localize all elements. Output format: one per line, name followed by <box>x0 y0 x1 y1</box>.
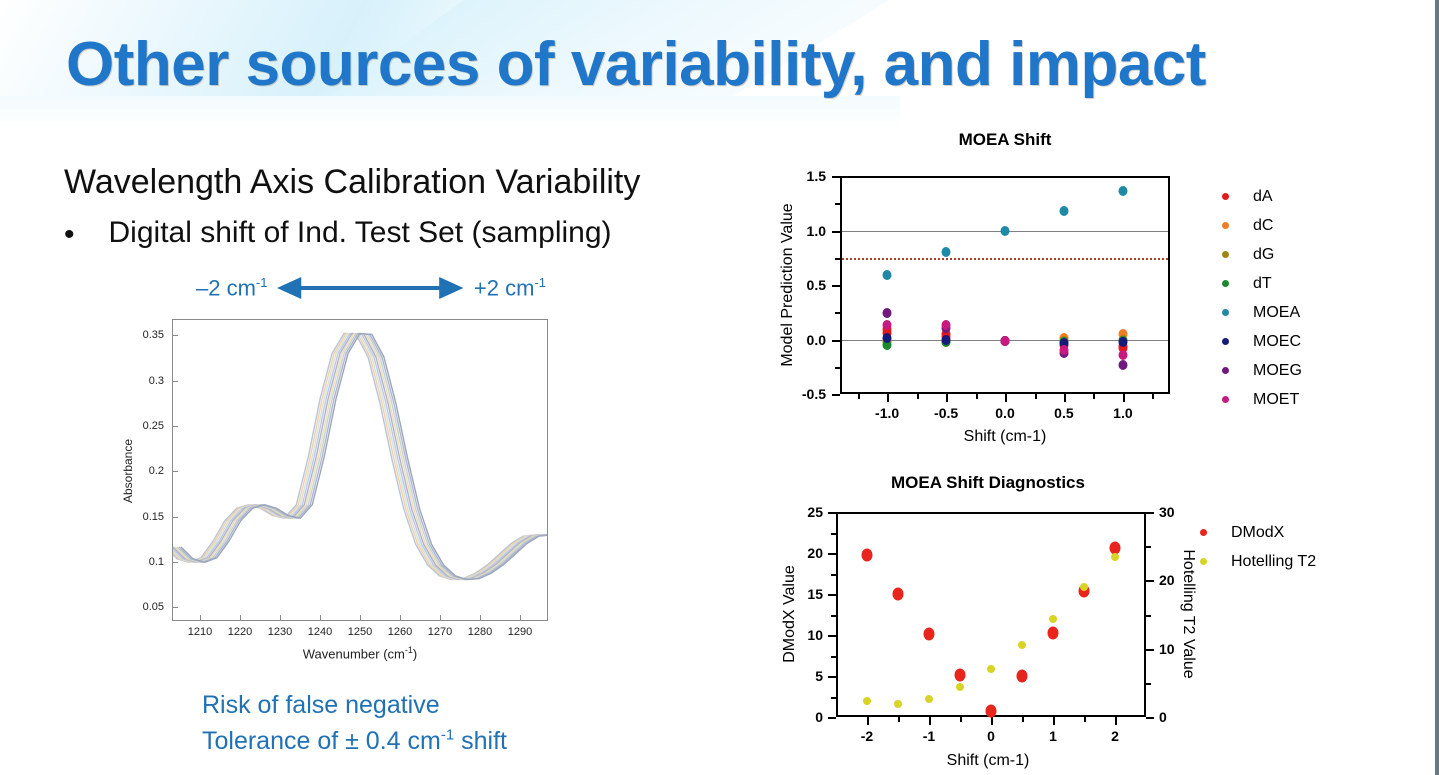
moea-x-minor-tick <box>858 394 860 399</box>
moea-data-point <box>1001 226 1010 236</box>
moea-y-tick-label: 1.0 <box>807 223 826 239</box>
moea-data-point <box>1059 345 1068 355</box>
moea-x-tick-mark <box>1064 394 1066 402</box>
diagnostics-data-point <box>862 548 873 561</box>
moea-legend-swatch <box>1222 193 1229 200</box>
diagnostics-y-tick-label: 10 <box>807 627 823 643</box>
moea-data-point <box>942 247 951 257</box>
moea-legend-swatch <box>1222 222 1229 229</box>
diagnostics-data-point <box>1017 670 1028 683</box>
moea-y-minor-tick <box>835 258 840 260</box>
moea-y-tick-label: 0.5 <box>807 277 826 293</box>
moea-legend-item: MOEG <box>1222 356 1302 385</box>
diagnostics-data-point <box>894 700 902 708</box>
moea-legend-label: dA <box>1253 188 1273 206</box>
diagnostics-data-point <box>1111 553 1119 561</box>
spectrum-x-tick-mark <box>280 615 281 621</box>
moea-legend-item: dA <box>1222 182 1302 211</box>
diagnostics-y-tick-mark <box>828 553 836 555</box>
diagnostics-data-point <box>986 705 997 718</box>
spectrum-x-tick-mark <box>320 615 321 621</box>
shift-range-annotation: –2 cm-1 +2 cm-1 <box>196 270 546 306</box>
diagnostics-x-tick-label: 2 <box>1111 728 1119 744</box>
spectrum-x-tick-label: 1270 <box>428 626 452 638</box>
moea-legend-swatch <box>1222 338 1229 345</box>
spectrum-chart: Absorbance Wavenumber (cm-1) 0.050.10.15… <box>130 313 556 670</box>
background-accent-fade <box>0 96 900 130</box>
moea-y-tick-mark <box>832 285 840 287</box>
spectrum-y-tick-label: 0.05 <box>143 601 164 613</box>
moea-legend-label: dC <box>1253 217 1273 235</box>
moea-data-point <box>1001 336 1010 346</box>
moea-x-tick-mark <box>887 394 889 402</box>
moea-y-tick-mark <box>832 394 840 396</box>
diagnostics-y-right-minor-tick <box>1146 683 1151 685</box>
moea-y-minor-tick <box>835 367 840 369</box>
bullet-list-item: • Digital shift of Ind. Test Set (sampli… <box>64 216 724 250</box>
spectrum-x-tick-label: 1240 <box>308 626 332 638</box>
diagnostics-data-point <box>1048 627 1059 640</box>
spectrum-x-tick-mark <box>520 615 521 621</box>
moea-x-axis-label: Shift (cm-1) <box>964 428 1047 446</box>
spectrum-trace <box>179 334 547 580</box>
diagnostics-y-minor-tick <box>831 533 836 535</box>
moea-y-minor-tick <box>835 203 840 205</box>
spectrum-trace <box>175 334 547 580</box>
diagnostics-x-minor-tick <box>960 717 962 722</box>
spectrum-trace <box>177 334 547 580</box>
spectrum-trace <box>173 334 547 580</box>
diagnostics-y-right-tick-label: 30 <box>1159 504 1175 520</box>
diagnostics-data-point <box>893 588 904 601</box>
spectrum-x-tick-label: 1230 <box>268 626 292 638</box>
diagnostics-y-axis-label: DModX Value <box>781 565 799 663</box>
moea-legend-item: dC <box>1222 211 1302 240</box>
spectrum-x-tick-mark <box>440 615 441 621</box>
spectrum-y-tick-label: 0.2 <box>149 465 164 477</box>
moea-legend-swatch <box>1222 367 1229 374</box>
moea-x-minor-tick <box>917 394 919 399</box>
diagnostics-data-point <box>925 695 933 703</box>
spectrum-x-tick-label: 1210 <box>188 626 212 638</box>
diagnostics-x-tick-mark <box>867 717 869 725</box>
diagnostics-y-right-minor-tick <box>1146 546 1151 548</box>
diagnostics-x-minor-tick <box>1084 717 1086 722</box>
diagnostics-legend-label: DModX <box>1231 524 1284 542</box>
spectrum-x-tick-mark <box>360 615 361 621</box>
diagnostics-x-tick-mark <box>991 717 993 725</box>
moea-data-point <box>1118 350 1127 360</box>
spectrum-x-axis-label: Wavenumber (cm-1) <box>303 645 417 661</box>
diagnostics-y-right-tick-mark <box>1146 649 1154 651</box>
spectrum-y-tick-mark <box>172 335 178 336</box>
bullet-marker-icon: • <box>64 216 75 250</box>
diagnostics-y-tick-label: 5 <box>815 668 823 684</box>
section-heading: Wavelength Axis Calibration Variability <box>64 163 640 202</box>
diagnostics-y-minor-tick <box>831 574 836 576</box>
spectrum-plot-area <box>172 319 548 621</box>
moea-legend-label: MOEA <box>1253 304 1300 322</box>
moea-legend-label: MOEG <box>1253 362 1302 380</box>
moea-y-tick-label: 1.5 <box>807 168 826 184</box>
spectrum-y-tick-label: 0.15 <box>143 511 164 523</box>
moea-legend-swatch <box>1222 396 1229 403</box>
spectrum-y-tick-mark <box>172 381 178 382</box>
diagnostics-y-right-minor-tick <box>1146 615 1151 617</box>
moea-x-tick-label: -1.0 <box>875 405 899 421</box>
diagnostics-x-tick-label: -2 <box>861 728 873 744</box>
moea-data-point <box>1059 206 1068 216</box>
moea-y-tick-mark <box>832 340 840 342</box>
moea-legend-item: MOET <box>1222 385 1302 414</box>
moea-data-point <box>1118 186 1127 196</box>
arrow-right-label: +2 cm-1 <box>474 275 546 301</box>
diagnostics-x-minor-tick <box>1022 717 1024 722</box>
diagnostics-data-point <box>1080 583 1088 591</box>
diagnostics-chart-title: MOEA Shift Diagnostics <box>891 473 1085 493</box>
spectrum-x-tick-mark <box>480 615 481 621</box>
diagnostics-y-tick-mark <box>828 676 836 678</box>
spectrum-y-axis-label: Absorbance <box>121 439 135 503</box>
moea-legend-label: dG <box>1253 246 1274 264</box>
moea-x-tick-label: 0.5 <box>1054 405 1073 421</box>
moea-x-minor-tick <box>1035 394 1037 399</box>
moea-y-axis-label: Model Prediction Value <box>779 203 797 366</box>
diagnostics-data-point <box>1018 641 1026 649</box>
spectrum-x-tick-label: 1280 <box>468 626 492 638</box>
spectrum-y-tick-mark <box>172 607 178 608</box>
conclusion-text: Risk of false negative Tolerance of ± 0.… <box>202 688 507 759</box>
moea-data-point <box>883 270 892 280</box>
diagnostics-y-tick-label: 20 <box>807 545 823 561</box>
spectrum-x-tick-mark <box>400 615 401 621</box>
moea-x-tick-label: 0.0 <box>995 405 1014 421</box>
spectrum-y-tick-label: 0.1 <box>149 556 164 568</box>
moea-data-point <box>1118 360 1127 370</box>
diagnostics-y-tick-mark <box>828 717 836 719</box>
moea-x-tick-mark <box>1005 394 1007 402</box>
moea-y-tick-mark <box>832 231 840 233</box>
diagnostics-x-tick-label: 1 <box>1049 728 1057 744</box>
spectrum-x-tick-mark <box>200 615 201 621</box>
spectrum-y-tick-label: 0.25 <box>143 420 164 432</box>
diagnostics-y-right-tick-label: 20 <box>1159 572 1175 588</box>
diagnostics-x-tick-mark <box>1053 717 1055 725</box>
diagnostics-y-tick-mark <box>828 512 836 514</box>
diagnostics-legend-item: Hotelling T2 <box>1200 547 1316 576</box>
moea-y-minor-tick <box>835 312 840 314</box>
moea-legend-swatch <box>1222 309 1229 316</box>
moea-x-tick-label: 1.0 <box>1113 405 1132 421</box>
page-title: Other sources of variability, and impact <box>66 32 1396 97</box>
moea-y-tick-mark <box>832 176 840 178</box>
moea-legend-item: MOEA <box>1222 298 1302 327</box>
moea-data-point <box>942 320 951 330</box>
moea-y-tick-label: -0.5 <box>802 386 826 402</box>
diagnostics-y-tick-mark <box>828 594 836 596</box>
spectrum-y-tick-mark <box>172 471 178 472</box>
moea-x-tick-mark <box>1123 394 1125 402</box>
diagnostics-y-minor-tick <box>831 697 836 699</box>
spectrum-x-tick-label: 1220 <box>228 626 252 638</box>
diagnostics-y-tick-label: 25 <box>807 504 823 520</box>
spectrum-y-tick-label: 0.3 <box>149 375 164 387</box>
spectrum-y-tick-label: 0.35 <box>143 329 164 341</box>
moea-x-minor-tick <box>1093 394 1095 399</box>
diagnostics-x-tick-label: -1 <box>923 728 935 744</box>
diagnostics-data-point <box>987 665 995 673</box>
diagnostics-y-minor-tick <box>831 615 836 617</box>
moea-legend-item: dG <box>1222 240 1302 269</box>
moea-legend-label: dT <box>1253 275 1272 293</box>
moea-x-minor-tick <box>976 394 978 399</box>
diagnostics-plot-area <box>836 512 1146 717</box>
spectrum-x-tick-mark <box>240 615 241 621</box>
diagnostics-y-right-tick-mark <box>1146 580 1154 582</box>
spectrum-x-tick-label: 1250 <box>348 626 372 638</box>
diagnostics-x-minor-tick <box>898 717 900 722</box>
diagnostics-x-tick-mark <box>1115 717 1117 725</box>
diagnostics-y-right-tick-label: 10 <box>1159 641 1175 657</box>
moea-legend-item: dT <box>1222 269 1302 298</box>
moea-y-tick-label: 0.0 <box>807 332 826 348</box>
diagnostics-legend-label: Hotelling T2 <box>1231 553 1316 571</box>
moea-x-tick-label: -0.5 <box>934 405 958 421</box>
arrow-left-label: –2 cm-1 <box>196 275 267 301</box>
moea-shift-legend: dAdCdGdTMOEAMOECMOEGMOET <box>1222 182 1302 414</box>
diagnostics-legend-swatch <box>1200 558 1207 565</box>
spectrum-y-tick-mark <box>172 426 178 427</box>
diagnostics-y-minor-tick <box>831 656 836 658</box>
diagnostics-y-tick-label: 15 <box>807 586 823 602</box>
diagnostics-data-point <box>863 697 871 705</box>
diagnostics-data-point <box>924 628 935 641</box>
diagnostics-legend: DModXHotelling T2 <box>1200 518 1316 576</box>
spectrum-trace <box>181 334 547 580</box>
moea-legend-label: MOET <box>1253 391 1299 409</box>
diagnostics-x-axis-label: Shift (cm-1) <box>947 752 1030 770</box>
diagnostics-y-right-tick-mark <box>1146 717 1154 719</box>
moea-x-tick-mark <box>946 394 948 402</box>
diagnostics-legend-swatch <box>1200 529 1207 536</box>
diagnostics-x-tick-mark <box>929 717 931 725</box>
moea-legend-swatch <box>1222 280 1229 287</box>
moea-data-point <box>942 335 951 345</box>
spectrum-x-tick-label: 1260 <box>388 626 412 638</box>
spectrum-traces <box>173 320 547 620</box>
double-headed-arrow-icon <box>277 274 463 302</box>
diagnostics-y-tick-label: 0 <box>815 709 823 725</box>
diagnostics-legend-item: DModX <box>1200 518 1316 547</box>
diagnostics-y-right-tick-label: 0 <box>1159 709 1167 725</box>
spectrum-x-tick-label: 1290 <box>508 626 532 638</box>
spectrum-y-tick-mark <box>172 517 178 518</box>
moea-threshold-line <box>842 258 1168 260</box>
moea-legend-swatch <box>1222 251 1229 258</box>
moea-data-point <box>883 308 892 318</box>
moea-x-minor-tick <box>1152 394 1154 399</box>
diagnostics-data-point <box>956 683 964 691</box>
conclusion-line-1: Risk of false negative <box>202 688 507 724</box>
moea-data-point <box>1118 337 1127 347</box>
diagnostics-y-tick-mark <box>828 635 836 637</box>
moea-legend-label: MOEC <box>1253 333 1301 351</box>
conclusion-line-2: Tolerance of ± 0.4 cm-1 shift <box>202 724 507 760</box>
diagnostics-y-right-tick-mark <box>1146 512 1154 514</box>
diagnostics-data-point <box>1049 615 1057 623</box>
moea-legend-item: MOEC <box>1222 327 1302 356</box>
moea-data-point <box>883 320 892 330</box>
moea-shift-chart-title: MOEA Shift <box>959 130 1052 150</box>
diagnostics-data-point <box>955 669 966 682</box>
spectrum-y-tick-mark <box>172 562 178 563</box>
diagnostics-y-axis-right-label: Hotelling T2 Value <box>1179 549 1197 678</box>
slide-right-edge <box>1435 0 1439 775</box>
diagnostics-x-tick-label: 0 <box>987 728 995 744</box>
moea-data-point <box>883 333 892 343</box>
bullet-item-label: Digital shift of Ind. Test Set (sampling… <box>109 216 612 250</box>
